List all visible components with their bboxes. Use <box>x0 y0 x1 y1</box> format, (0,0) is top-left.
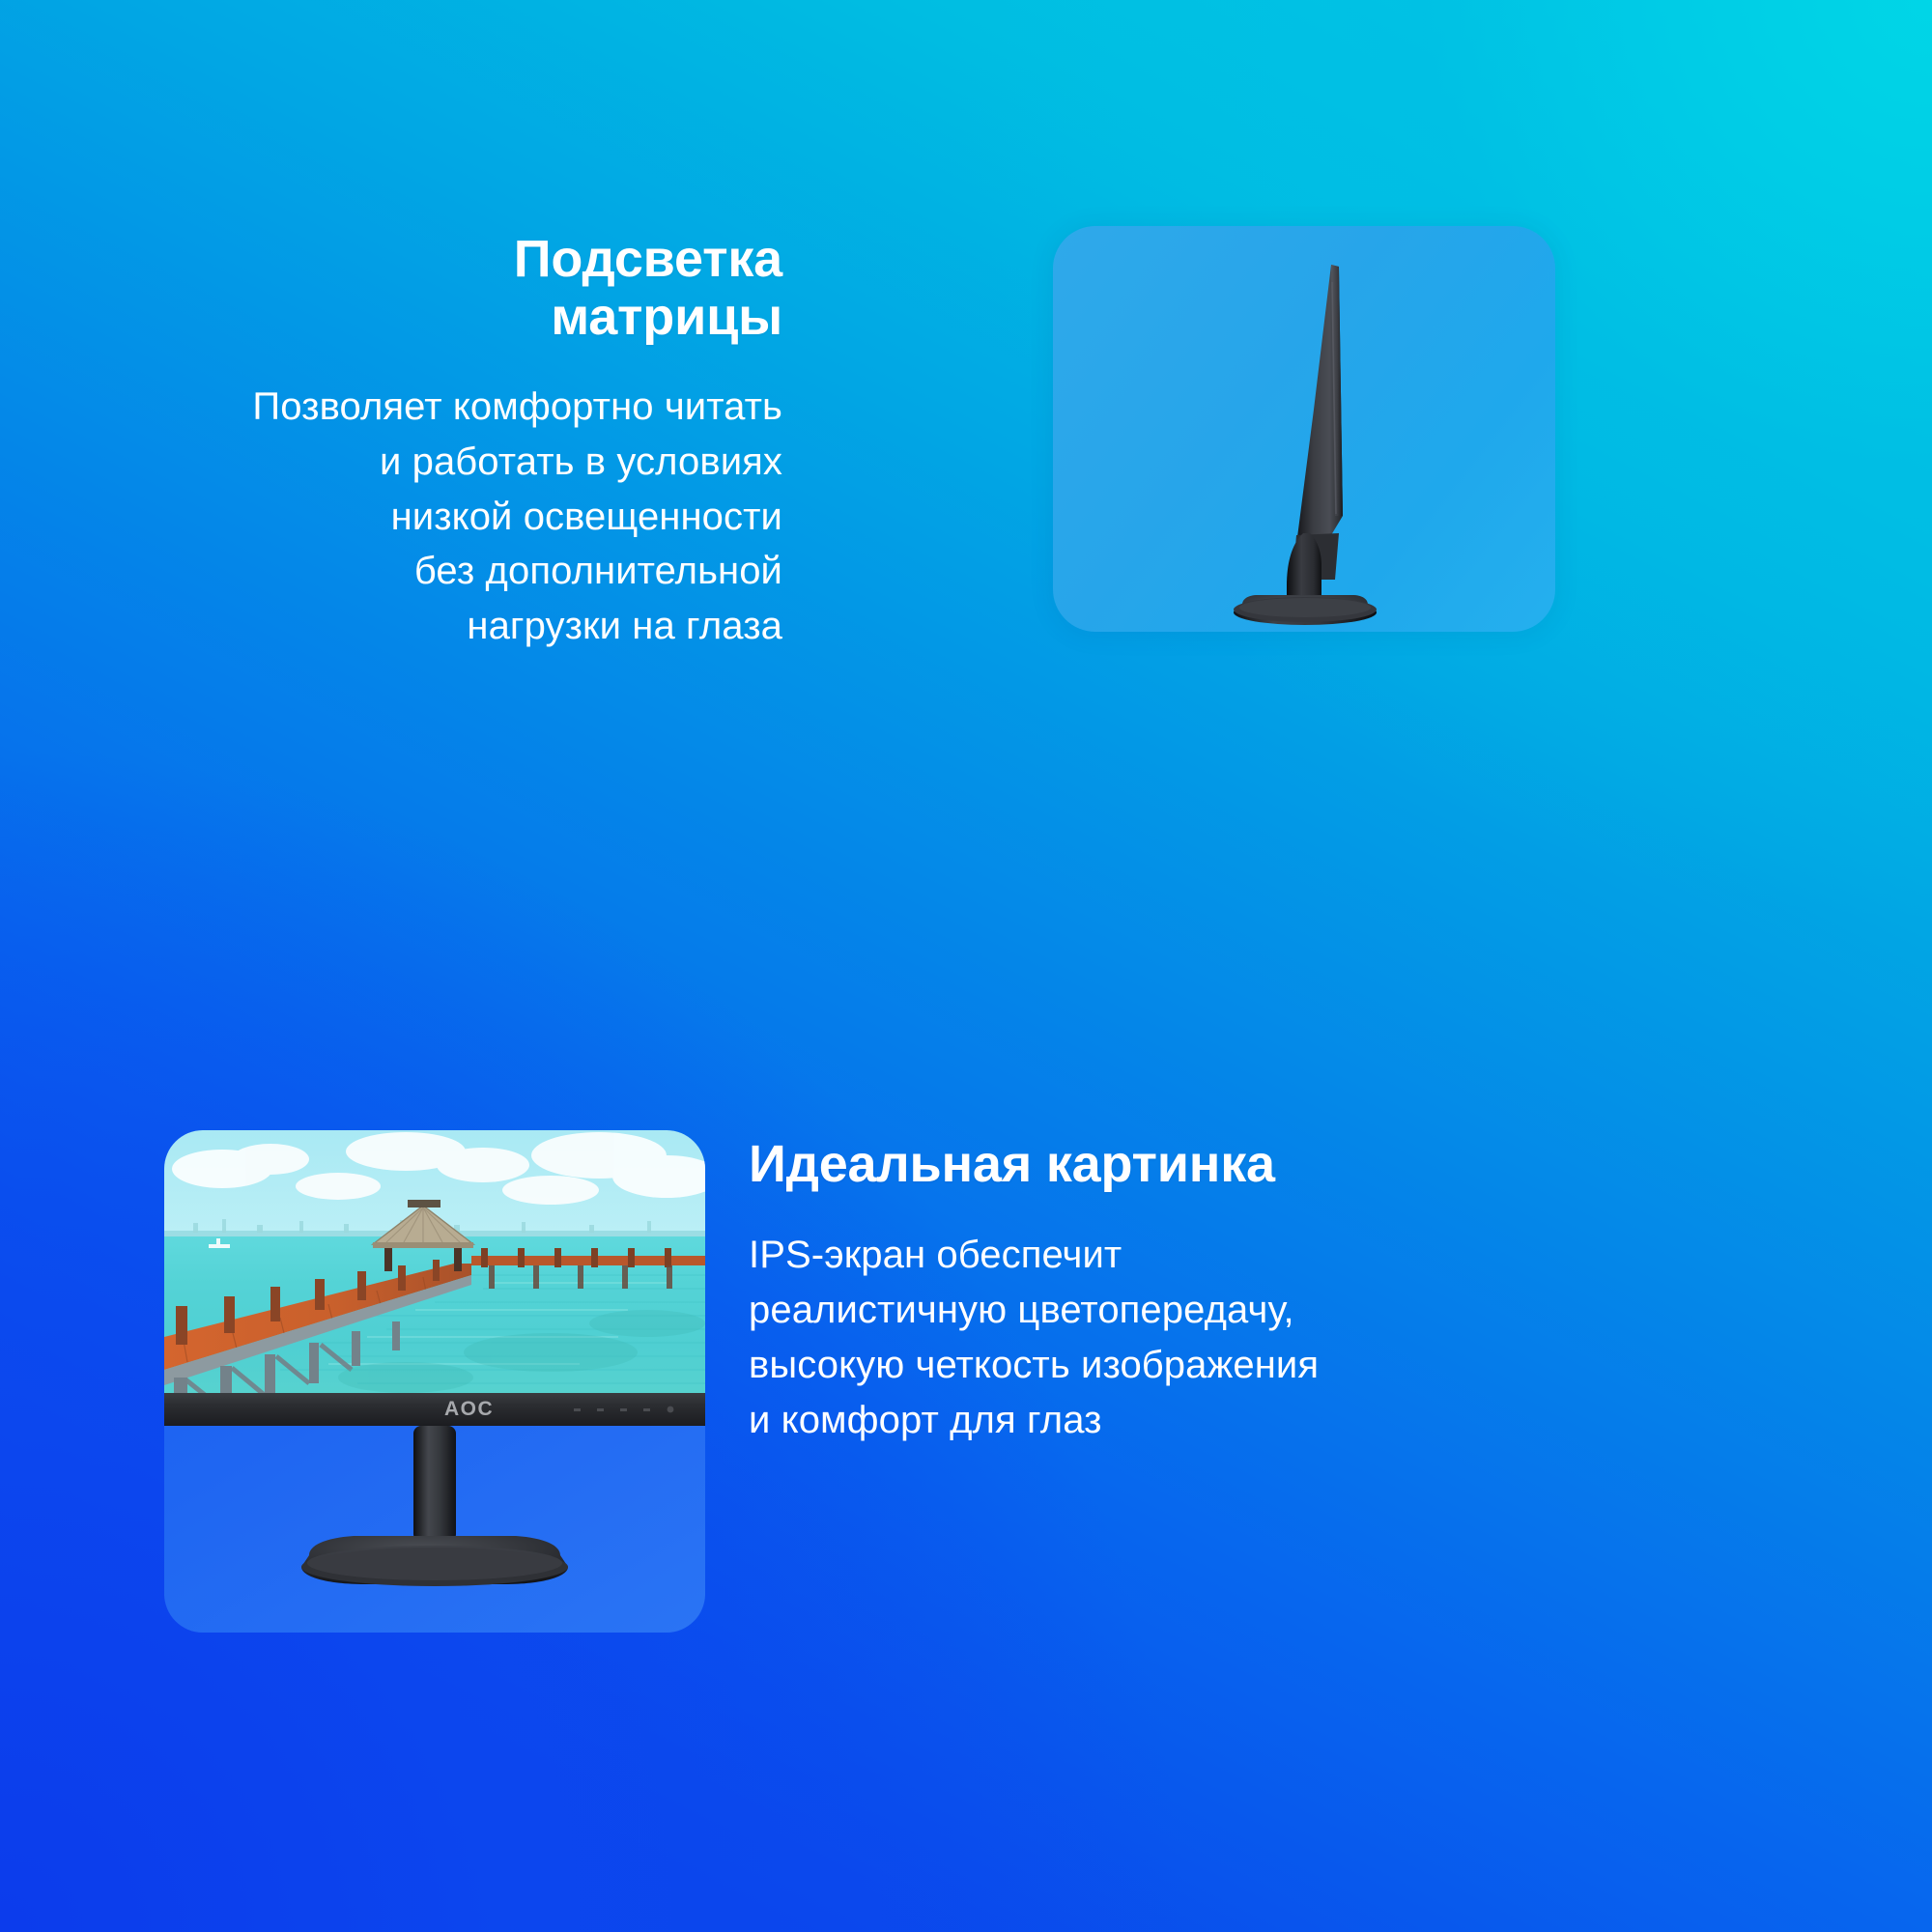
backlight-text-block: Подсветка матрицы Позволяет комфортно чи… <box>164 230 782 654</box>
backlight-body-line-4: без дополнительной <box>164 544 782 599</box>
monitor-side-view-card <box>1053 226 1555 632</box>
monitor-front-illustration: AOC <box>164 1130 705 1633</box>
aoc-logo: AOC <box>444 1398 494 1420</box>
picture-heading-line-1: Идеальная картинка <box>749 1135 1425 1193</box>
backlight-heading-line-2: матрицы <box>164 288 782 346</box>
picture-body-line-2: реалистичную цветопередачу, <box>749 1283 1425 1338</box>
backlight-body-line-3: низкой освещенности <box>164 490 782 545</box>
backlight-heading: Подсветка матрицы <box>164 230 782 347</box>
picture-body: IPS-экран обеспечит реалистичную цветопе… <box>749 1228 1425 1447</box>
picture-heading: Идеальная картинка <box>749 1135 1425 1193</box>
monitor-front-view-card: AOC <box>164 1130 705 1633</box>
backlight-body-line-1: Позволяет комфортно читать <box>164 380 782 435</box>
picture-body-line-3: высокую четкость изображения <box>749 1338 1425 1393</box>
infographic-canvas: Подсветка матрицы Позволяет комфортно чи… <box>0 0 1932 1932</box>
picture-body-line-1: IPS-экран обеспечит <box>749 1228 1425 1283</box>
backlight-body: Позволяет комфортно читать и работать в … <box>164 380 782 654</box>
monitor-side-profile-illustration <box>1053 226 1555 632</box>
picture-body-line-4: и комфорт для глаз <box>749 1393 1425 1448</box>
backlight-body-line-5: нагрузки на глаза <box>164 599 782 654</box>
picture-text-block: Идеальная картинка IPS-экран обеспечит р… <box>749 1135 1425 1448</box>
monitor-stand-neck <box>413 1426 456 1542</box>
backlight-heading-line-1: Подсветка <box>164 230 782 288</box>
backlight-body-line-2: и работать в условиях <box>164 435 782 490</box>
screen-wallpaper <box>164 1130 705 1435</box>
